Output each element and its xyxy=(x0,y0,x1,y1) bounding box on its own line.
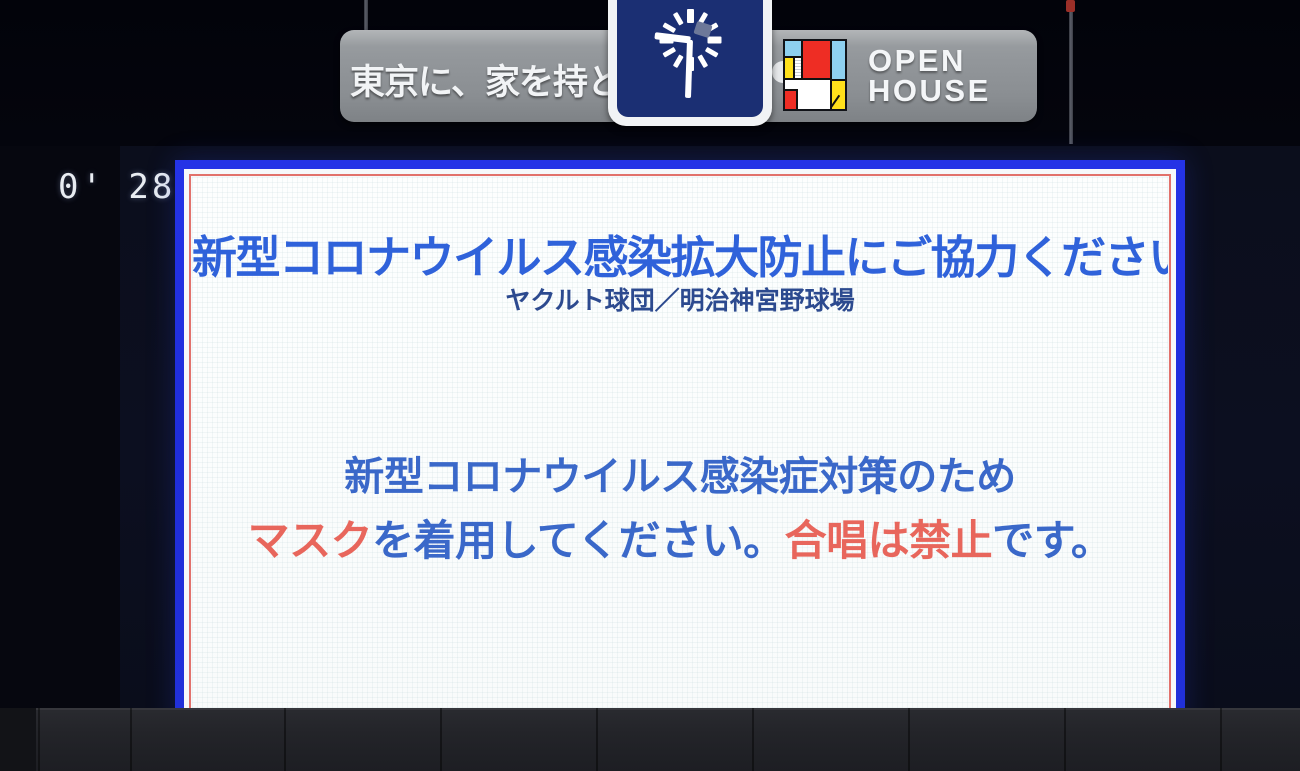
screen-subline: ヤクルト球団／明治神宮野球場 xyxy=(192,281,1168,317)
brand-logo-wrapper xyxy=(783,39,855,113)
body-segment-mask: マスク xyxy=(248,517,373,564)
brand-line-house: HOUSE xyxy=(868,76,991,106)
panel-seam xyxy=(38,708,40,771)
panel-seam xyxy=(1064,708,1066,771)
understructure-left-dark xyxy=(0,708,36,771)
panel-seam xyxy=(1220,708,1222,771)
stadium-understructure xyxy=(0,708,1300,771)
panel-seam xyxy=(752,708,754,771)
body-segment-desu: です。 xyxy=(992,517,1112,564)
clock-minute-hand xyxy=(685,40,693,98)
brand-line-open: OPEN xyxy=(868,46,991,76)
screen-content-area: 新型コロナウイルス感染拡大防止にご協力ください ヤクルト球団／明治神宮野球場 新… xyxy=(192,177,1168,708)
support-pole-right xyxy=(1069,8,1073,144)
screen-headline: 新型コロナウイルス感染拡大防止にご協力ください xyxy=(192,221,1168,286)
screen-body-line-2: マスクを着用してください。合唱は禁止です。 xyxy=(192,507,1168,568)
support-pole-left xyxy=(364,0,368,34)
panel-seam xyxy=(130,708,132,771)
banner-slogan: 東京に、家を持とう。 xyxy=(350,54,622,105)
panel-seam xyxy=(284,708,286,771)
panel-seam xyxy=(440,708,442,771)
panel-seam xyxy=(908,708,910,771)
scoreboard-wall-left-shadow xyxy=(0,146,120,708)
body-segment-no-chanting: 合唱は禁止 xyxy=(785,517,993,564)
clock-face xyxy=(617,0,763,117)
panel-seam xyxy=(596,708,598,771)
led-message-screen: 新型コロナウイルス感染拡大防止にご協力ください ヤクルト球団／明治神宮野球場 新… xyxy=(175,160,1185,725)
pole-red-tip xyxy=(1066,0,1075,12)
body-segment-wear: を着用してください。 xyxy=(372,517,784,564)
screen-body-line-1: 新型コロナウイルス感染症対策のため xyxy=(192,444,1168,502)
mondrian-house-logo-icon xyxy=(783,39,847,111)
stadium-scoreboard-scene: 東京に、家を持とう。 xyxy=(0,0,1300,771)
brand-wordmark: OPEN HOUSE xyxy=(868,46,991,106)
analog-clock xyxy=(608,0,772,126)
open-house-brand: OPEN HOUSE xyxy=(783,39,991,113)
